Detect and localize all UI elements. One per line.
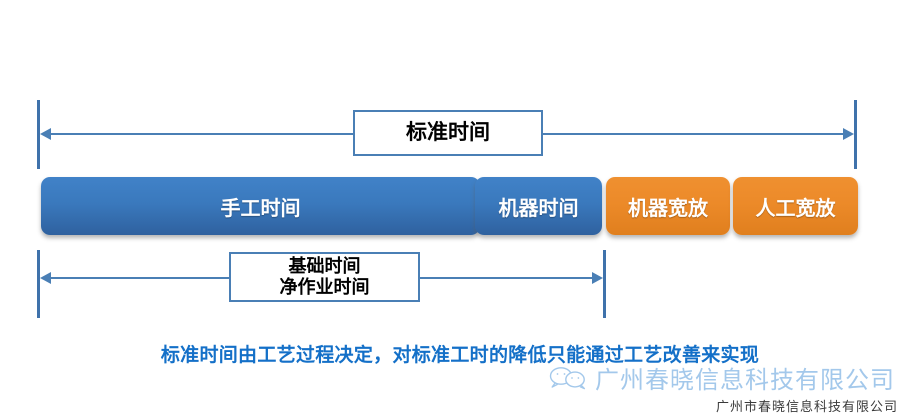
top-arrow-right-head: [843, 128, 854, 140]
bar-segment-machine-time[interactable]: 机器时间: [475, 177, 602, 235]
bar-segment-manual-allowance[interactable]: 人工宽放: [733, 177, 858, 235]
top-arrow-line-right: [543, 133, 845, 135]
watermark-text: 广州春晓信息科技有限公司: [595, 360, 895, 395]
base-time-label-line2: 净作业时间: [280, 277, 370, 298]
top-arrow-right-tick: [854, 100, 857, 169]
bar-segment-label: 手工时间: [221, 192, 301, 221]
bottom-arrow-right-head: [592, 272, 603, 284]
bar-segment-manual-time[interactable]: 手工时间: [41, 177, 480, 235]
bottom-arrow-right-tick: [603, 250, 606, 318]
base-time-label-box: 基础时间 净作业时间: [229, 252, 420, 302]
bar-segment-label: 机器时间: [499, 192, 579, 221]
wechat-icon: [548, 366, 588, 390]
footer-company-name: 广州市春晓信息科技有限公司: [716, 396, 898, 415]
bar-segment-machine-allowance[interactable]: 机器宽放: [606, 177, 730, 235]
bottom-arrow-line-right: [420, 277, 594, 279]
top-arrow-line-left: [51, 133, 355, 135]
bar-segment-label: 机器宽放: [628, 192, 708, 221]
standard-time-label: 标准时间: [406, 121, 490, 146]
watermark: 广州春晓信息科技有限公司: [548, 360, 895, 395]
standard-time-label-box: 标准时间: [353, 110, 543, 156]
bottom-arrow-left-head: [40, 272, 51, 284]
bar-segment-label: 人工宽放: [756, 192, 836, 221]
base-time-label-line1: 基础时间: [289, 256, 361, 277]
bottom-arrow-line-left: [51, 277, 231, 279]
top-arrow-left-head: [40, 128, 51, 140]
bottom-arrow-left-tick: [37, 250, 40, 318]
slide-canvas: 标准时间 手工时间 机器时间 机器宽放 人工宽放 基础时间 净作业时间 标准时间…: [0, 0, 920, 419]
